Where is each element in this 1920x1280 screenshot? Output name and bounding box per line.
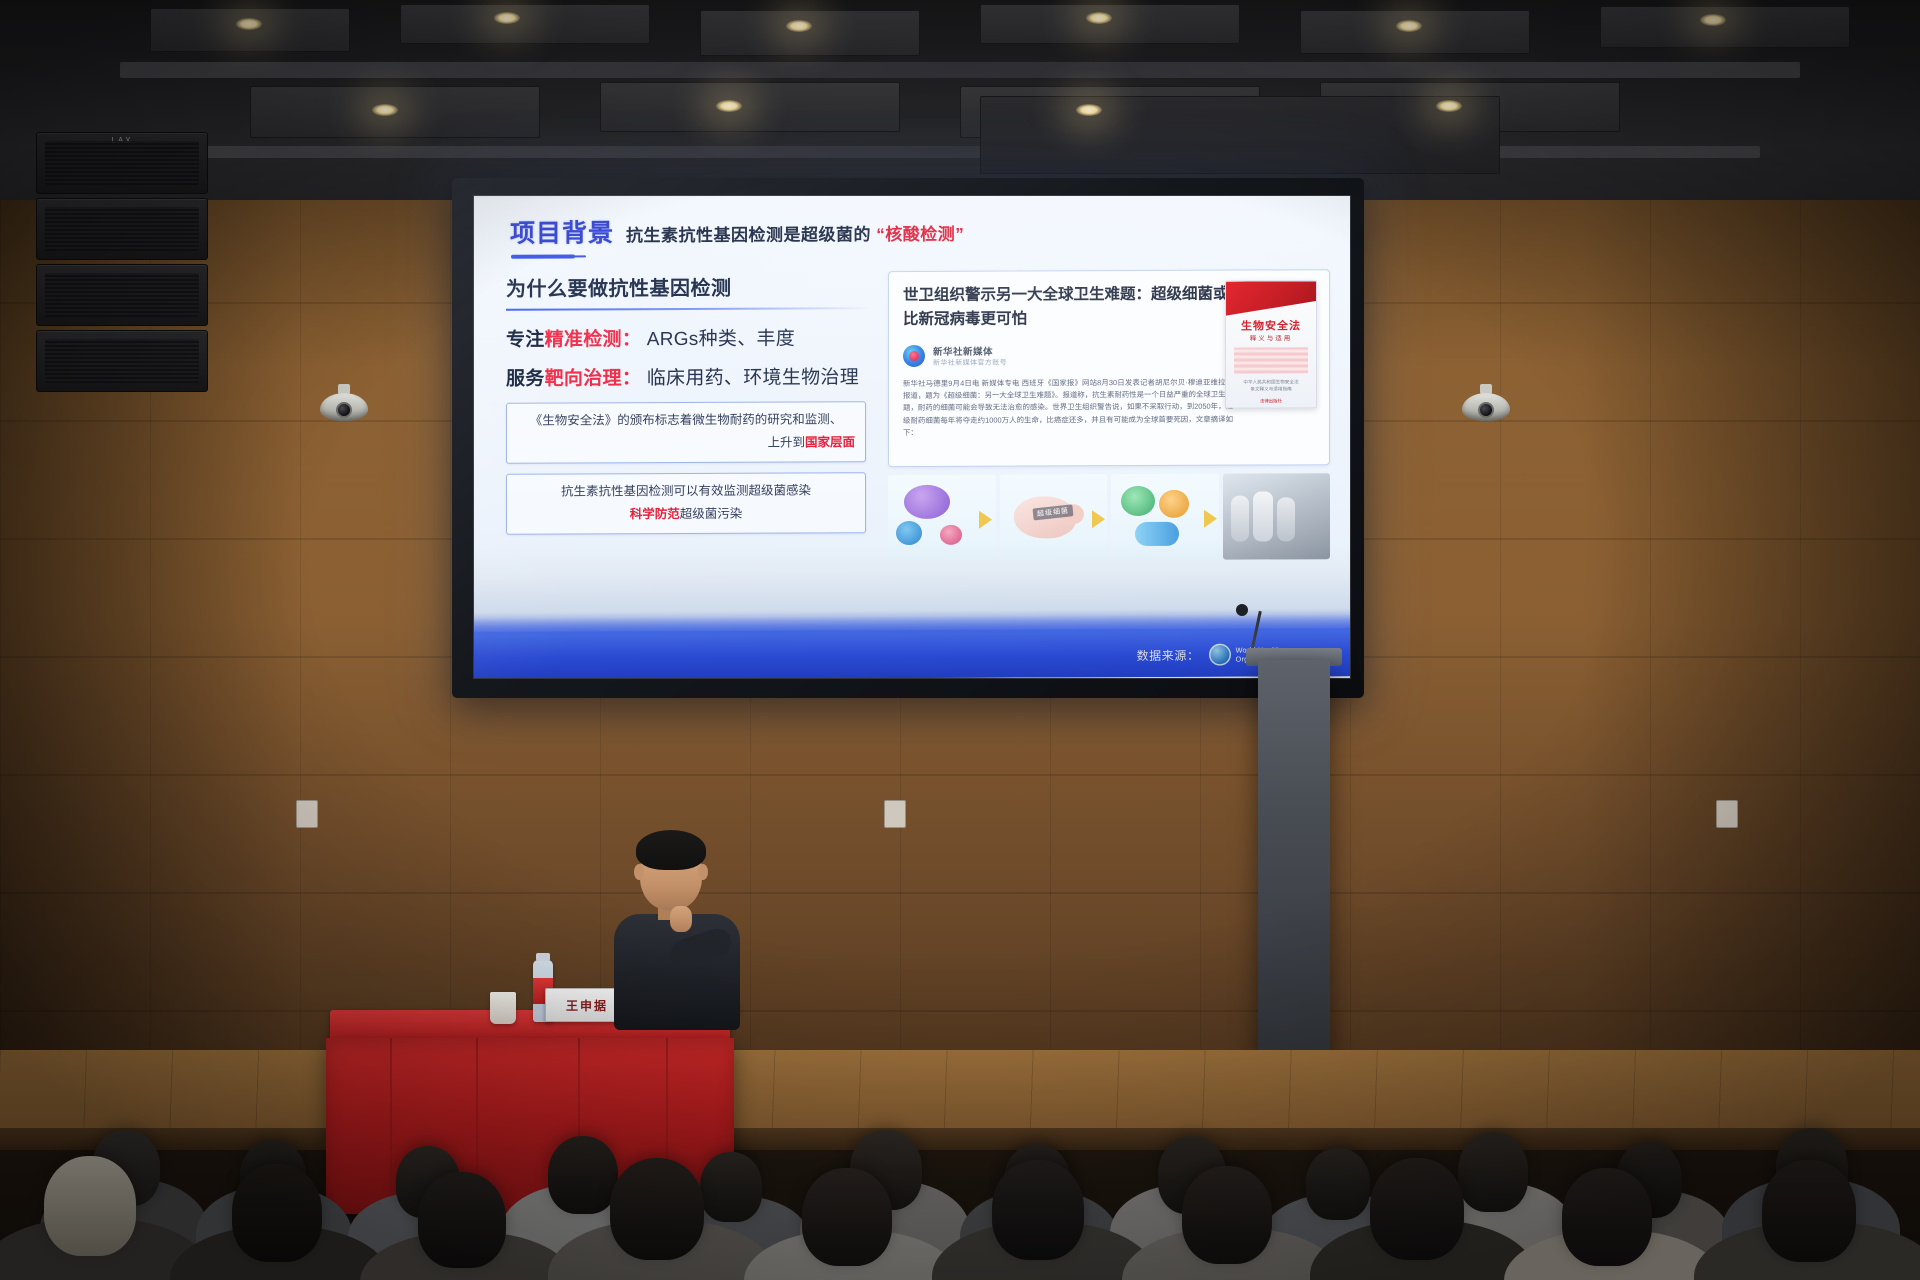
paper-cup [490, 992, 516, 1024]
slide-right-column: 世卫组织警示另一大全球卫生难题：超级细菌或比新冠病毒更可怕 新华社新媒体 新华社… [888, 269, 1330, 561]
presenter [612, 830, 742, 1030]
left-heading-rule [506, 307, 872, 311]
surveillance-camera-left [320, 384, 368, 424]
ceiling-light [1076, 104, 1102, 116]
key-point-1: 专注精准检测： ARGs种类、丰度 [506, 323, 872, 352]
slide-left-column: 为什么要做抗性基因检测 专注精准检测： ARGs种类、丰度 服务靶向治理： 临床… [500, 271, 872, 563]
wall-socket [296, 800, 318, 828]
ceiling-light [1436, 100, 1462, 112]
info-card-1-line2-lead: 上升到 [767, 435, 805, 449]
info-card-2-line2-highlight: 科学防范 [630, 507, 680, 521]
ceiling-light [1700, 14, 1726, 26]
slide-title: 项目背景 抗生素抗性基因检测是超级菌的 “核酸检测” [510, 210, 1330, 250]
key-point-1-highlight: 精准检测 [545, 329, 622, 350]
ceiling-light [1396, 20, 1422, 32]
left-heading: 为什么要做抗性基因检测 [506, 271, 872, 302]
ceiling-light [786, 20, 812, 32]
news-body-text: 新华社马德里9月4日电 新媒体专电 西班牙《国家报》网站8月30日发表记者胡尼尔… [903, 377, 1233, 440]
illustration-strip: 超级细菌 [888, 473, 1330, 561]
key-point-1-lead: 专注 [506, 330, 545, 351]
xinhua-logo-icon [903, 345, 925, 367]
who-globe-icon [1209, 644, 1231, 666]
news-source-sub: 新华社新媒体官方账号 [933, 358, 1007, 368]
projection-screen: 项目背景 抗生素抗性基因检测是超级菌的 “核酸检测” 为什么要做抗性基因检测 专… [452, 178, 1364, 698]
audience-head [610, 1158, 704, 1260]
audience-head [700, 1152, 762, 1222]
line-array-speakers: LAX [36, 132, 208, 396]
ceiling-light [372, 104, 398, 116]
audience-head [1762, 1160, 1856, 1262]
data-source-label: 数据来源： [1137, 646, 1200, 663]
info-card-2-line1: 抗生素抗性基因检测可以有效监测超级菌感染 [517, 481, 855, 501]
key-point-1-colon: ： [622, 329, 641, 350]
info-card-1-line1: 《生物安全法》的颁布标志着微生物耐药的研究和监测、 [517, 410, 855, 430]
info-card-1-line2: 上升到国家层面 [517, 432, 855, 453]
news-clipping-panel: 世卫组织警示另一大全球卫生难题：超级细菌或比新冠病毒更可怕 新华社新媒体 新华社… [888, 269, 1330, 467]
news-source-name: 新华社新媒体 [933, 344, 1007, 358]
audience-head [802, 1168, 892, 1266]
key-point-1-tail: ARGs种类、丰度 [647, 329, 795, 351]
lecture-hall-scene: LAX 项目背景 抗生素抗性基因检测是超级菌的 “核酸检测” [0, 0, 1920, 1280]
audience-head [992, 1160, 1084, 1260]
title-underline [511, 254, 575, 258]
podium [1258, 660, 1330, 1060]
info-card-2: 抗生素抗性基因检测可以有效监测超级菌感染 科学防范超级菌污染 [506, 472, 866, 534]
key-point-2-tail: 临床用药、环境生物治理 [647, 367, 859, 389]
slide-title-sub: 抗生素抗性基因检测是超级菌的 “核酸检测” [626, 220, 964, 246]
wall-shadow-right [1580, 200, 1920, 1130]
slide-title-main: 项目背景 [510, 213, 614, 249]
illustration-medical-staff-photo [1223, 473, 1331, 559]
slide-title-highlight: “核酸检测” [876, 225, 964, 244]
audience-head [418, 1172, 506, 1268]
microphone-head-icon [1236, 604, 1248, 616]
nameplate-text: 王申据 [566, 997, 608, 1014]
presentation-slide: 项目背景 抗生素抗性基因检测是超级菌的 “核酸检测” 为什么要做抗性基因检测 专… [474, 196, 1350, 678]
key-point-2-highlight: 靶向治理 [545, 368, 622, 389]
audience-head [1182, 1166, 1272, 1264]
key-point-2: 服务靶向治理： 临床用药、环境生物治理 [506, 362, 872, 391]
wall-socket [1716, 800, 1738, 828]
news-headline: 世卫组织警示另一大全球卫生难题：超级细菌或比新冠病毒更可怕 [903, 283, 1233, 332]
ceiling-light [1086, 12, 1112, 24]
audience-head [232, 1164, 322, 1262]
audience-head [1306, 1148, 1370, 1220]
audience-head [1370, 1158, 1464, 1260]
illustration-bacteria [888, 475, 996, 561]
illustration-livestock: 超级细菌 [1000, 474, 1108, 560]
ceiling-light [236, 18, 262, 30]
wall-socket [884, 800, 906, 828]
info-card-1: 《生物安全法》的颁布标志着微生物耐药的研究和监测、 上升到国家层面 [506, 401, 866, 463]
audience-head [548, 1136, 618, 1214]
info-card-1-line2-highlight: 国家层面 [805, 435, 855, 449]
surveillance-camera-right [1462, 384, 1510, 424]
illustration-gene-transfer [1111, 474, 1219, 560]
audience [0, 1060, 1920, 1280]
slide-title-sub-text: 抗生素抗性基因检测是超级菌的 [626, 225, 871, 245]
ceiling-light [494, 12, 520, 24]
audience-head [1458, 1132, 1528, 1212]
audience-head [44, 1156, 136, 1256]
biosafety-law-book-cover: 生物安全法 释义与适用 中华人民共和国生物安全法条文释义与适用指南 法律出版社 [1225, 280, 1317, 408]
info-card-2-line2: 科学防范超级菌污染 [517, 503, 855, 524]
ceiling-light [716, 100, 742, 112]
key-point-2-colon: ： [622, 368, 641, 389]
info-card-2-line2-tail: 超级菌污染 [680, 506, 743, 520]
key-point-2-lead: 服务 [506, 369, 545, 390]
audience-head [1562, 1168, 1652, 1266]
